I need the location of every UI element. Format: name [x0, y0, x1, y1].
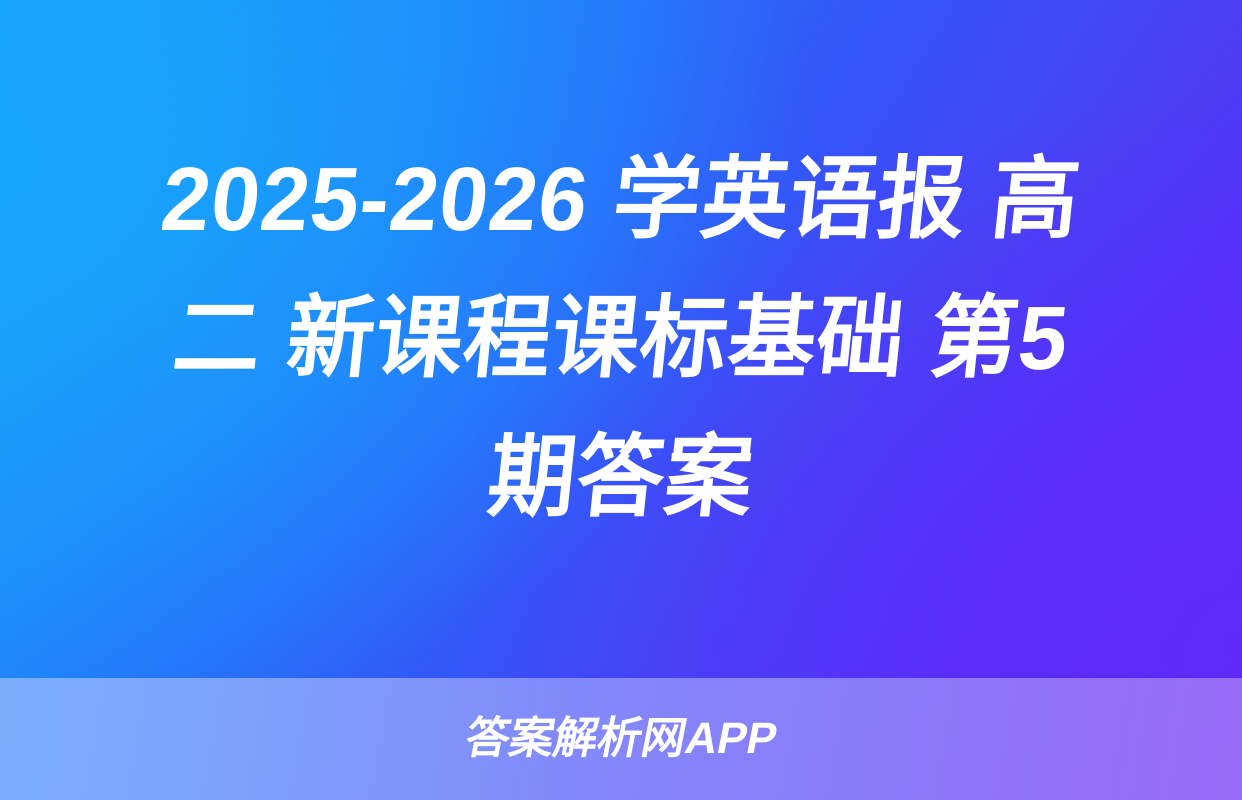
watermark-bar: 答案解析网APP: [0, 678, 1242, 800]
answer-card: 2025-2026 学英语报 高 二 新课程课标基础 第5 期答案 答案解析网A…: [0, 0, 1242, 800]
hero-banner: 2025-2026 学英语报 高 二 新课程课标基础 第5 期答案: [0, 0, 1242, 678]
title-line-2: 二 新课程课标基础 第5: [80, 270, 1162, 409]
title-line-3: 期答案: [80, 409, 1162, 548]
page-title: 2025-2026 学英语报 高 二 新课程课标基础 第5 期答案: [61, 131, 1181, 548]
watermark-text: 答案解析网APP: [461, 714, 781, 764]
title-line-1: 2025-2026 学英语报 高: [80, 131, 1162, 270]
